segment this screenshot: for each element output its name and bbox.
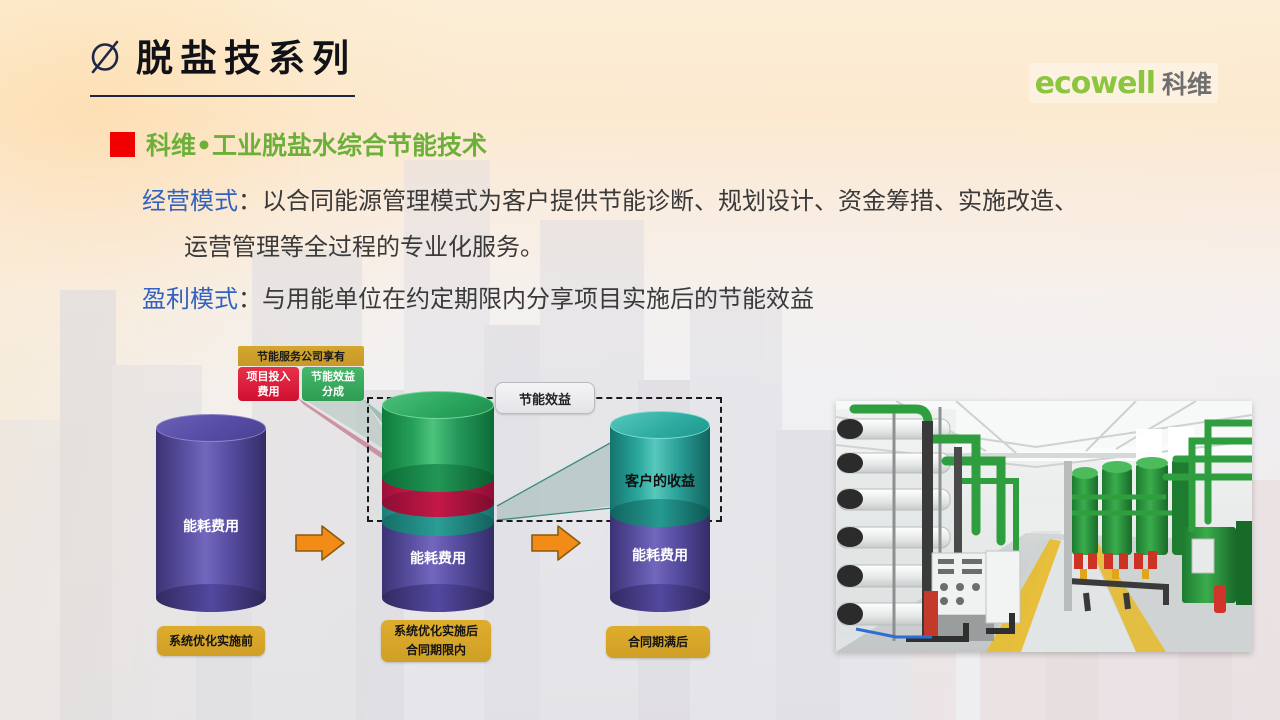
page-title: 脱盐技系列 xyxy=(136,28,356,82)
cylinder-during: 能耗费用 xyxy=(382,405,494,598)
cylinder-before-segment-label: 能耗费用 xyxy=(156,516,266,536)
plant-photo-illustration xyxy=(836,401,1252,652)
section-heading: 科维•工业脱盐水综合节能技术 xyxy=(110,126,487,162)
cylinder-before: 能耗费用 xyxy=(156,428,266,598)
red-square-bullet-icon xyxy=(110,132,135,157)
arrow-1-icon xyxy=(292,522,348,564)
project-cost-label-line2: 费用 xyxy=(258,384,280,399)
esco-owned-label: 节能服务公司享有 xyxy=(238,346,364,366)
desalination-plant-photo xyxy=(836,401,1252,652)
business-model-label: 经营模式 xyxy=(142,187,238,215)
cylinder-during-segment-label: 能耗费用 xyxy=(382,548,494,568)
cylinder-segment-energy-cost xyxy=(156,428,266,598)
cylinder-during-tag: 系统优化实施后 合同期限内 xyxy=(381,620,491,662)
cylinder-before-tag-line1: 系统优化实施前 xyxy=(169,632,253,651)
brand-logo: ecowell 科维 xyxy=(1029,63,1218,103)
cylinder-during-tag-line1: 系统优化实施后 xyxy=(394,622,478,641)
logo-wordmark-cn: 科维 xyxy=(1162,65,1212,101)
savings-model-diagram: 节能效益 节能服务公司享有 项目投入 费用 节能效益 分成 能耗费用 系统优化实… xyxy=(0,330,840,680)
business-model-text-line1: 以合同能源管理模式为客户提供节能诊断、规划设计、资金筹措、实施改造、 xyxy=(262,187,1078,215)
cylinder-after-cost-label: 能耗费用 xyxy=(610,545,710,565)
cylinder-after-tag-line1: 合同期满后 xyxy=(628,633,688,652)
arrow-2-icon xyxy=(528,522,584,564)
cylinder-after-benefit-label: 客户的收益 xyxy=(610,471,710,491)
savings-share-label-line1: 节能效益 xyxy=(311,369,355,384)
profit-model-text-line1: 与用能单位在约定期限内分享项目实施后的节能效益 xyxy=(262,285,814,313)
project-cost-label-line1: 项目投入 xyxy=(247,369,291,384)
legend-savings-benefit: 节能效益 xyxy=(495,382,595,414)
profit-model-paragraph: 盈利模式：与用能单位在约定期限内分享项目实施后的节能效益 xyxy=(142,276,1232,322)
savings-share-label-line2: 分成 xyxy=(322,384,344,399)
slide-root: 脱盐技系列 ecowell 科维 科维•工业脱盐水综合节能技术 经营模式：以合同… xyxy=(0,0,1280,720)
title-underline xyxy=(90,95,355,97)
cylinder-segment-savings-share xyxy=(382,405,494,478)
cylinder-before-tag: 系统优化实施前 xyxy=(157,626,265,656)
section-heading-label: 科维•工业脱盐水综合节能技术 xyxy=(146,126,487,162)
cylinder-after: 客户的收益 能耗费用 xyxy=(610,425,710,598)
business-model-paragraph: 经营模式：以合同能源管理模式为客户提供节能诊断、规划设计、资金筹措、实施改造、 … xyxy=(142,178,1232,270)
cylinder-during-tag-line2: 合同期限内 xyxy=(406,641,466,660)
logo-wordmark: ecowell xyxy=(1035,66,1155,101)
business-model-text-line2: 运营管理等全过程的专业化服务。 xyxy=(142,224,1232,270)
project-cost-label: 项目投入 费用 xyxy=(238,367,299,401)
savings-share-label: 节能效益 分成 xyxy=(302,367,364,401)
cylinder-after-tag: 合同期满后 xyxy=(606,626,710,658)
profit-model-label: 盈利模式 xyxy=(142,285,238,313)
cylinder-segment-customer-benefit xyxy=(610,425,710,513)
phi-slashed-circle-icon xyxy=(88,36,122,76)
profit-model-separator: ： xyxy=(238,285,262,313)
business-model-separator: ： xyxy=(238,187,262,215)
